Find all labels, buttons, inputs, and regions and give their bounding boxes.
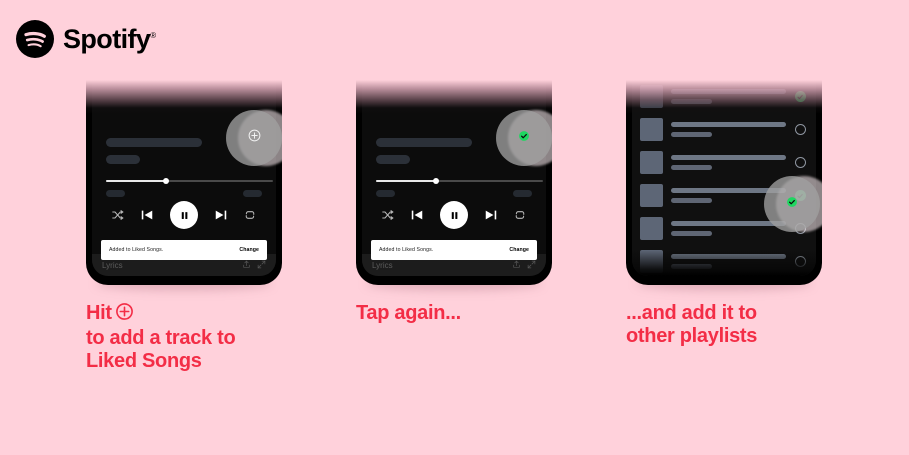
progress-knob[interactable] bbox=[433, 178, 439, 184]
brand-wordmark: Spotify® bbox=[63, 26, 156, 53]
elapsed-time-placeholder bbox=[376, 190, 395, 197]
phone-mockup-2: Added to Liked Songs. Change Lyrics bbox=[356, 80, 552, 285]
artist-name-placeholder bbox=[106, 155, 140, 164]
list-item[interactable] bbox=[632, 80, 816, 113]
previous-icon[interactable] bbox=[410, 208, 424, 222]
playlist-cover-thumbnail bbox=[640, 217, 663, 240]
caption-1-line-2: to add a track to bbox=[86, 327, 235, 349]
progress-fill bbox=[376, 180, 436, 182]
playlist-meta-placeholder bbox=[671, 264, 712, 269]
panel-1: Added to Liked Songs. Change Lyrics bbox=[86, 80, 282, 285]
playlist-name-placeholder bbox=[671, 122, 786, 127]
playlist-checkbox[interactable] bbox=[794, 157, 806, 169]
playlist-text-placeholder bbox=[671, 155, 786, 170]
next-icon[interactable] bbox=[214, 208, 228, 222]
spotify-logo-icon bbox=[16, 20, 54, 58]
liked-songs-toast: Added to Liked Songs. Change bbox=[371, 240, 537, 260]
check-circle-icon bbox=[785, 195, 799, 214]
caption-2: Tap again... bbox=[356, 302, 461, 325]
caption-1-line-1: Hit bbox=[86, 302, 112, 324]
repeat-icon[interactable] bbox=[514, 209, 526, 221]
pause-icon[interactable] bbox=[440, 201, 468, 229]
playlist-meta-placeholder bbox=[671, 165, 712, 170]
caption-3-line-1: ...and add it to bbox=[626, 302, 757, 324]
lyrics-label: Lyrics bbox=[372, 261, 393, 270]
toast-message: Added to Liked Songs. bbox=[109, 247, 163, 253]
pause-icon[interactable] bbox=[170, 201, 198, 229]
playlist-text-placeholder bbox=[671, 89, 786, 104]
panels-row: Added to Liked Songs. Change Lyrics bbox=[0, 80, 909, 400]
caption-2-line-1: Tap again... bbox=[356, 302, 461, 324]
plus-circle-icon bbox=[247, 128, 262, 148]
liked-songs-toast: Added to Liked Songs. Change bbox=[101, 240, 267, 260]
shuffle-icon[interactable] bbox=[382, 209, 394, 221]
playlist-text-placeholder bbox=[671, 254, 786, 269]
playlist-name-placeholder bbox=[671, 254, 786, 259]
progress-bar[interactable] bbox=[106, 180, 273, 182]
elapsed-time-placeholder bbox=[106, 190, 125, 197]
playlist-name-placeholder bbox=[671, 221, 786, 226]
list-item[interactable] bbox=[632, 245, 816, 276]
empty-circle-icon bbox=[795, 157, 806, 168]
playback-controls bbox=[362, 198, 546, 232]
toast-change-button[interactable]: Change bbox=[239, 247, 259, 253]
playlist-cover-thumbnail bbox=[640, 250, 663, 273]
playlist-name-placeholder bbox=[671, 155, 786, 160]
list-item[interactable] bbox=[632, 146, 816, 179]
toast-change-button[interactable]: Change bbox=[509, 247, 529, 253]
tap-target-select-playlist[interactable] bbox=[764, 176, 820, 232]
playlist-meta-placeholder bbox=[671, 231, 712, 236]
empty-circle-icon bbox=[795, 256, 806, 267]
progress-fill bbox=[106, 180, 166, 182]
playlist-checkbox[interactable] bbox=[794, 91, 806, 103]
progress-knob[interactable] bbox=[163, 178, 169, 184]
tap-target-add-to-liked[interactable] bbox=[226, 110, 282, 166]
playlist-meta-placeholder bbox=[671, 198, 712, 203]
panel-2: Added to Liked Songs. Change Lyrics bbox=[356, 80, 552, 285]
check-circle-icon bbox=[517, 129, 531, 148]
playlist-cover-thumbnail bbox=[640, 118, 663, 141]
caption-1: Hitto add a track toLiked Songs bbox=[86, 302, 235, 372]
playback-controls bbox=[92, 198, 276, 232]
brand-name-text: Spotify bbox=[63, 24, 150, 54]
toast-message: Added to Liked Songs. bbox=[379, 247, 433, 253]
spotify-brand-header: Spotify® bbox=[16, 20, 156, 58]
playlist-text-placeholder bbox=[671, 122, 786, 137]
lyrics-label: Lyrics bbox=[102, 261, 123, 270]
caption-1-line-3: Liked Songs bbox=[86, 350, 202, 372]
phone-mockup-1: Added to Liked Songs. Change Lyrics bbox=[86, 80, 282, 285]
panel-3: ...and add it toother playlists bbox=[626, 80, 822, 285]
artist-name-placeholder bbox=[376, 155, 410, 164]
track-title-placeholder bbox=[106, 138, 202, 147]
previous-icon[interactable] bbox=[140, 208, 154, 222]
playlist-cover-thumbnail bbox=[640, 184, 663, 207]
plus-circle-icon bbox=[115, 302, 134, 327]
registered-trademark-symbol: ® bbox=[150, 31, 155, 40]
next-icon[interactable] bbox=[484, 208, 498, 222]
tap-target-liked-confirm[interactable] bbox=[496, 110, 552, 166]
check-circle-icon bbox=[795, 91, 806, 102]
caption-3-line-2: other playlists bbox=[626, 325, 757, 347]
progress-bar[interactable] bbox=[376, 180, 543, 182]
phone-mockup-3 bbox=[626, 80, 822, 285]
list-item[interactable] bbox=[632, 113, 816, 146]
playlist-checkbox[interactable] bbox=[794, 124, 806, 136]
remaining-time-placeholder bbox=[243, 190, 262, 197]
repeat-icon[interactable] bbox=[244, 209, 256, 221]
playlist-meta-placeholder bbox=[671, 132, 712, 137]
playlist-name-placeholder bbox=[671, 89, 786, 94]
playlist-checkbox[interactable] bbox=[794, 256, 806, 268]
playlist-cover-thumbnail bbox=[640, 151, 663, 174]
playlist-cover-thumbnail bbox=[640, 85, 663, 108]
playlist-text-placeholder bbox=[671, 221, 786, 236]
remaining-time-placeholder bbox=[513, 190, 532, 197]
playlist-meta-placeholder bbox=[671, 99, 712, 104]
caption-3: ...and add it toother playlists bbox=[626, 302, 757, 348]
empty-circle-icon bbox=[795, 124, 806, 135]
track-title-placeholder bbox=[376, 138, 472, 147]
shuffle-icon[interactable] bbox=[112, 209, 124, 221]
